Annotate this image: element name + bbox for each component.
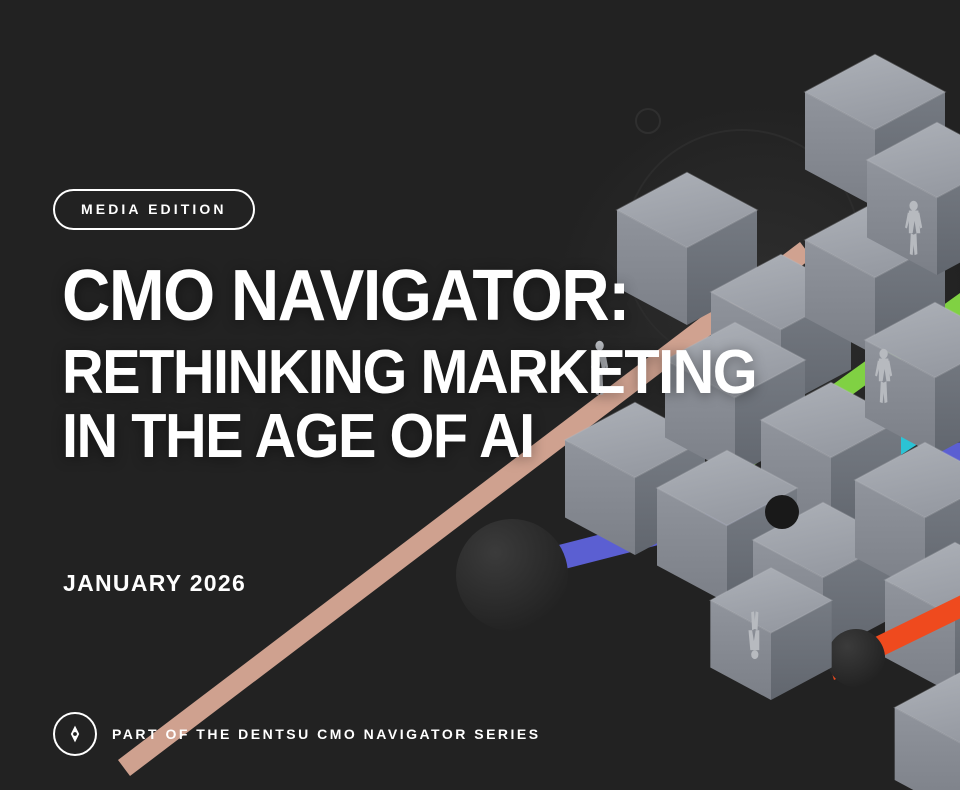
footer-series-attribution: PART OF THE DENTSU CMO NAVIGATOR SERIES: [53, 712, 541, 756]
publication-date: JANUARY 2026: [63, 570, 246, 597]
title-line-3: IN THE AGE OF AI: [62, 407, 756, 467]
footer-label: PART OF THE DENTSU CMO NAVIGATOR SERIES: [112, 726, 541, 742]
compass-icon: [53, 712, 97, 756]
cover-content: MEDIA EDITION CMO NAVIGATOR: RETHINKING …: [0, 0, 960, 790]
cover-page: MEDIA EDITION CMO NAVIGATOR: RETHINKING …: [0, 0, 960, 790]
title-line-2: RETHINKING MARKETING: [62, 343, 756, 403]
page-title: CMO NAVIGATOR: RETHINKING MARKETING IN T…: [62, 262, 808, 466]
media-edition-badge: MEDIA EDITION: [53, 189, 255, 230]
title-line-1: CMO NAVIGATOR:: [62, 262, 756, 331]
